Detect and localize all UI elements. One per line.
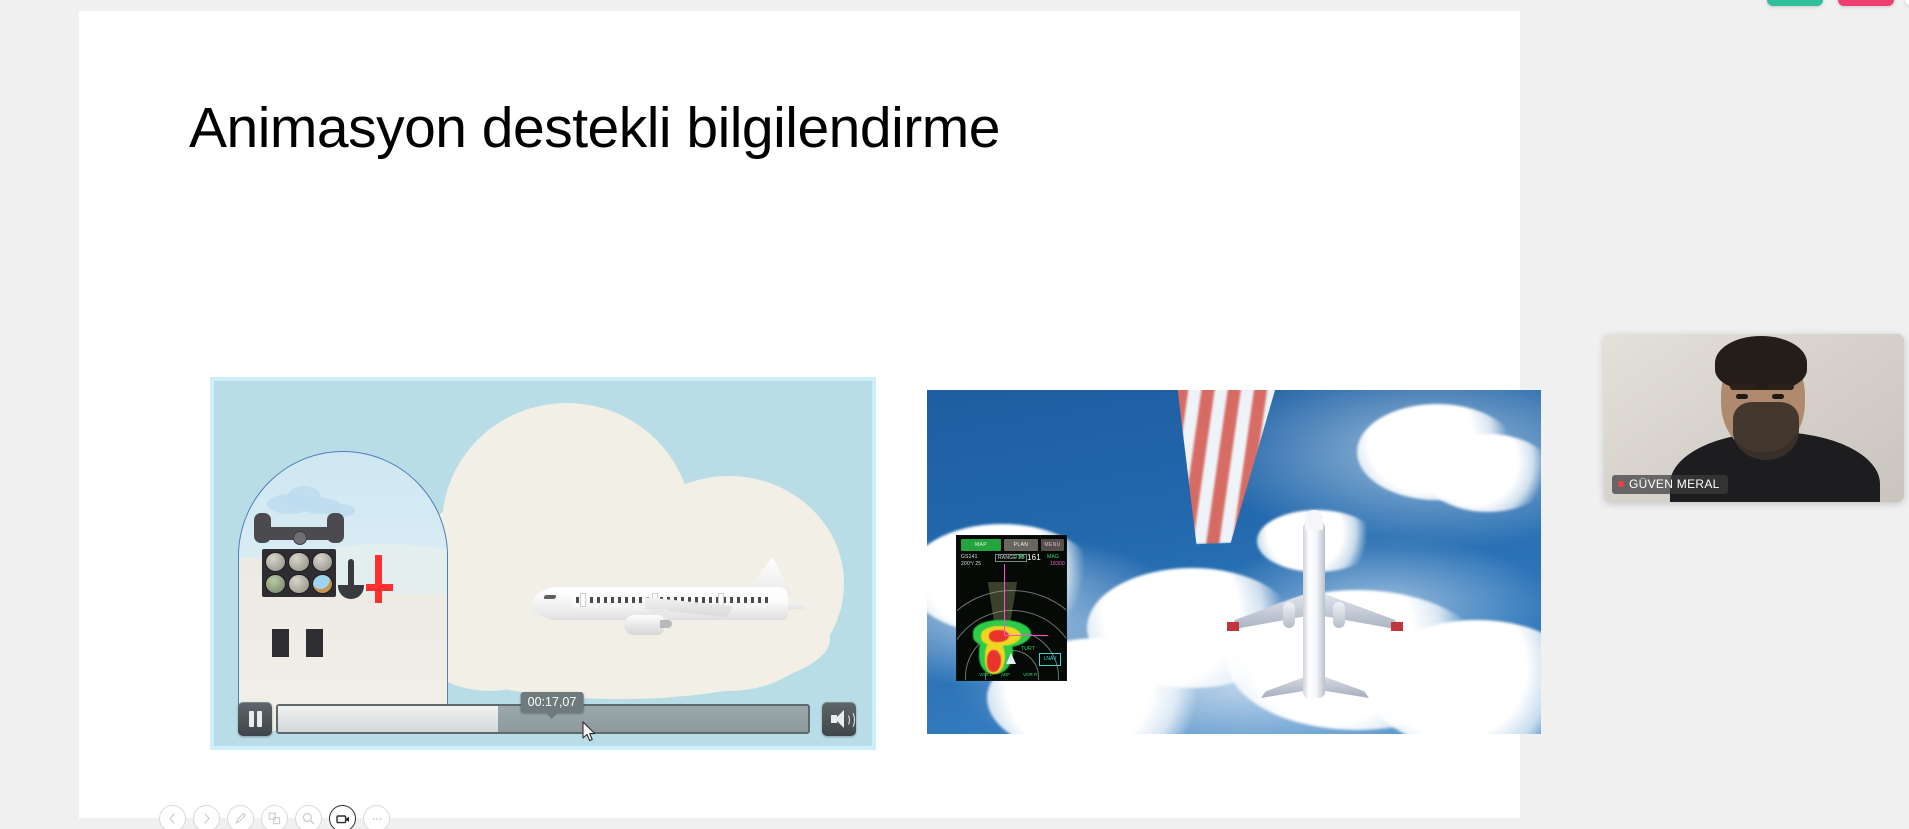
nd-bottom-label: VOR R [1023,672,1037,677]
presenter-eyebrow [1768,384,1794,390]
cloud-icon [1423,434,1541,512]
gauge-icon [288,552,309,572]
navigation-display: MAP PLAN MENU GS141 200°/ 25 RANGE 20 TR… [956,535,1067,681]
pen-button[interactable] [227,805,254,829]
photo-video-object[interactable]: MAP PLAN MENU GS141 200°/ 25 RANGE 20 TR… [927,390,1541,734]
nd-tab-plan: PLAN [1004,539,1038,551]
nd-bottom-label: VOR L [979,672,993,677]
recording-indicator-dot [1618,481,1624,487]
webcam-pip[interactable]: GÜVEN MERAL [1604,334,1904,502]
nd-route-line [1004,635,1048,636]
nose [1305,510,1323,530]
rudder-pedal-icon [306,629,323,657]
camera-icon [335,811,351,827]
mouse-cursor [582,721,597,743]
ellipsis-icon [369,811,385,827]
video-progress-fill [278,706,498,732]
nd-altitude: 18300 [1050,561,1065,567]
presenter-name-label: GÜVEN MERAL [1629,477,1720,491]
nd-heading: 161 [1027,553,1041,562]
presenter-name-badge: GÜVEN MERAL [1612,475,1728,494]
chevron-left-icon [166,812,179,825]
nd-tab-menu: MENU [1041,539,1064,551]
magnifier-icon [301,811,316,826]
volume-icon[interactable] [822,702,856,736]
nd-wind: 200°/ 25 [961,561,981,567]
top-white-chip[interactable] [1905,0,1909,6]
yoke-hub [293,531,307,545]
slide-canvas[interactable]: Animasyon destekli bilgilendirme [79,11,1520,818]
camera-button[interactable] [329,805,356,829]
gauge-icon [265,552,286,572]
zoom-button[interactable] [295,805,322,829]
attitude-indicator-icon [312,574,333,594]
cabin-door [580,593,586,607]
engine [624,615,664,635]
grid-icon [267,811,282,826]
nd-track-label: TRK [1015,554,1026,560]
winglet-left [1227,622,1239,631]
rudder-pedal-icon [272,629,289,657]
airliner-illustration [532,557,804,665]
engine-exhaust [660,620,672,628]
slide-grid-button[interactable] [261,805,288,829]
pause-icon[interactable] [238,702,272,736]
fuselage [1303,518,1325,698]
presenter-toolbar [159,805,390,829]
nd-waypoint-label: TURT [1021,646,1035,652]
presentation-window: Animasyon destekli bilgilendirme [0,0,1909,829]
instrument-cluster-icon [262,549,336,597]
nd-bottom-label: ADF [1001,672,1010,677]
aircraft-top-view [1245,518,1385,708]
top-green-chip[interactable] [1767,0,1823,6]
engine-right [1333,602,1345,628]
nd-tab-map: MAP [961,539,1001,551]
winglet-right [1391,622,1403,631]
top-red-chip[interactable] [1838,0,1894,6]
previous-slide-button[interactable] [159,805,186,829]
gauge-icon [265,574,286,594]
nd-magnetic-label: MAG [1047,554,1059,560]
throttle-lever-handle [366,584,393,591]
chevron-right-icon [200,812,213,825]
yoke-icon [254,515,344,549]
gauge-icon [312,552,333,572]
throttle-lever-icon [375,555,382,603]
next-slide-button[interactable] [193,805,220,829]
presenter-eye [1736,394,1748,399]
presenter-eye [1772,394,1784,399]
nd-aircraft-symbol [1006,653,1016,664]
stabilizer-left [1261,676,1307,698]
presenter-beard [1733,402,1799,460]
stabilizer-right [1323,676,1369,698]
cockpit-window [543,595,556,599]
gauge-icon [288,574,309,594]
nd-groundspeed: GS141 [961,554,978,560]
video-time-tooltip: 00:17,07 [521,692,584,713]
presenter-hair [1715,336,1807,390]
presenter-eyebrow [1730,384,1756,390]
page-title: Animasyon destekli bilgilendirme [189,98,1000,160]
nd-route-line [1004,564,1005,636]
more-options-button[interactable] [363,805,390,829]
nd-mode-box: LNAV [1039,653,1061,666]
pen-icon [233,811,248,826]
engine-left [1283,602,1295,628]
